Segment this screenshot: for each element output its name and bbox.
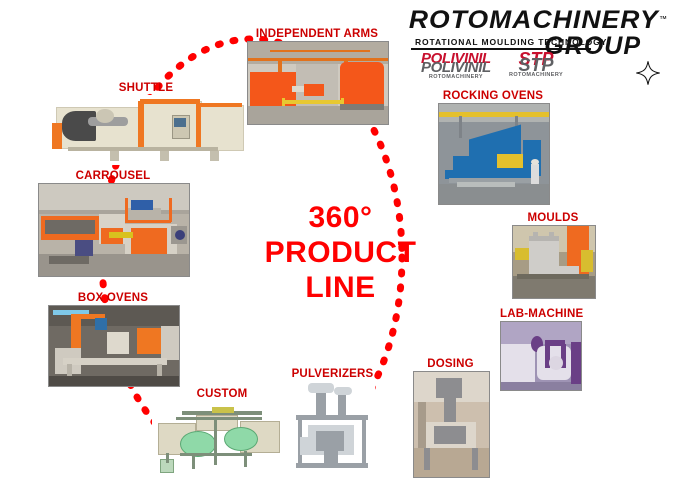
node-pulverizers[interactable]: PULVERIZERS: [290, 368, 375, 473]
label-carrousel: CARROUSEL: [38, 170, 188, 183]
node-dosing[interactable]: DOSING: [413, 358, 490, 478]
sublogo-polivinil-subtitle: ROTOMACHINERY: [421, 74, 491, 80]
photo-carrousel: [38, 183, 190, 277]
node-custom[interactable]: CUSTOM: [152, 388, 292, 481]
diamond-star-icon: [635, 60, 661, 86]
photo-shuttle: [48, 95, 244, 165]
photo-pulverizers: [290, 381, 375, 473]
photo-dosing: [413, 371, 490, 478]
photo-moulds: [512, 225, 596, 299]
sublogo-polivinil[interactable]: POLIVINIL POLIVINIL ROTOMACHINERY: [421, 52, 491, 80]
brand-wordmark: ROTOMACHINERY™: [397, 6, 667, 35]
photo-rocking-ovens: [438, 103, 550, 205]
photo-custom: [152, 401, 292, 481]
node-rocking-ovens[interactable]: ROCKING OVENS: [438, 90, 550, 205]
sublogo-stp-shadow: STP: [509, 60, 563, 71]
label-independent-arms: INDEPENDENT ARMS: [247, 28, 387, 41]
label-lab-machine: LAB-MACHINE: [500, 308, 580, 321]
label-shuttle: SHUTTLE: [48, 82, 244, 95]
node-moulds[interactable]: MOULDS: [512, 212, 596, 299]
label-box-ovens: BOX OVENS: [48, 292, 178, 305]
photo-box-ovens: [48, 305, 180, 387]
photo-lab-machine: [500, 321, 582, 391]
node-shuttle[interactable]: SHUTTLE: [48, 82, 244, 165]
node-carrousel[interactable]: CARROUSEL: [38, 170, 190, 277]
brand-name: ROTOMACHINERY: [409, 6, 659, 35]
sublogo-stp-subtitle: ROTOMACHINERY: [509, 72, 563, 78]
node-independent-arms[interactable]: INDEPENDENT ARMS: [247, 28, 389, 125]
headline-line-2: PRODUCT: [238, 235, 443, 270]
label-dosing: DOSING: [413, 358, 488, 371]
brand-logo[interactable]: ROTOMACHINERY™ ROTATIONAL MOULDING TECHN…: [397, 4, 667, 90]
label-custom: CUSTOM: [152, 388, 292, 401]
sublogo-polivinil-shadow: POLIVINIL: [421, 62, 491, 73]
photo-independent-arms: [247, 41, 389, 125]
headline-line-1: 360°: [238, 200, 443, 235]
center-headline: 360° PRODUCT LINE: [238, 200, 443, 305]
sublogo-stp[interactable]: STP STP ROTOMACHINERY: [509, 52, 563, 78]
label-moulds: MOULDS: [512, 212, 594, 225]
product-line-diagram: SHUTTLE INDEPENDENT ARMS: [0, 0, 675, 497]
node-lab-machine[interactable]: LAB-MACHINE: [500, 308, 582, 391]
label-pulverizers: PULVERIZERS: [290, 368, 375, 381]
headline-line-3: LINE: [238, 270, 443, 305]
label-rocking-ovens: ROCKING OVENS: [438, 90, 548, 103]
node-box-ovens[interactable]: BOX OVENS: [48, 292, 180, 387]
trademark-icon: ™: [659, 15, 667, 24]
